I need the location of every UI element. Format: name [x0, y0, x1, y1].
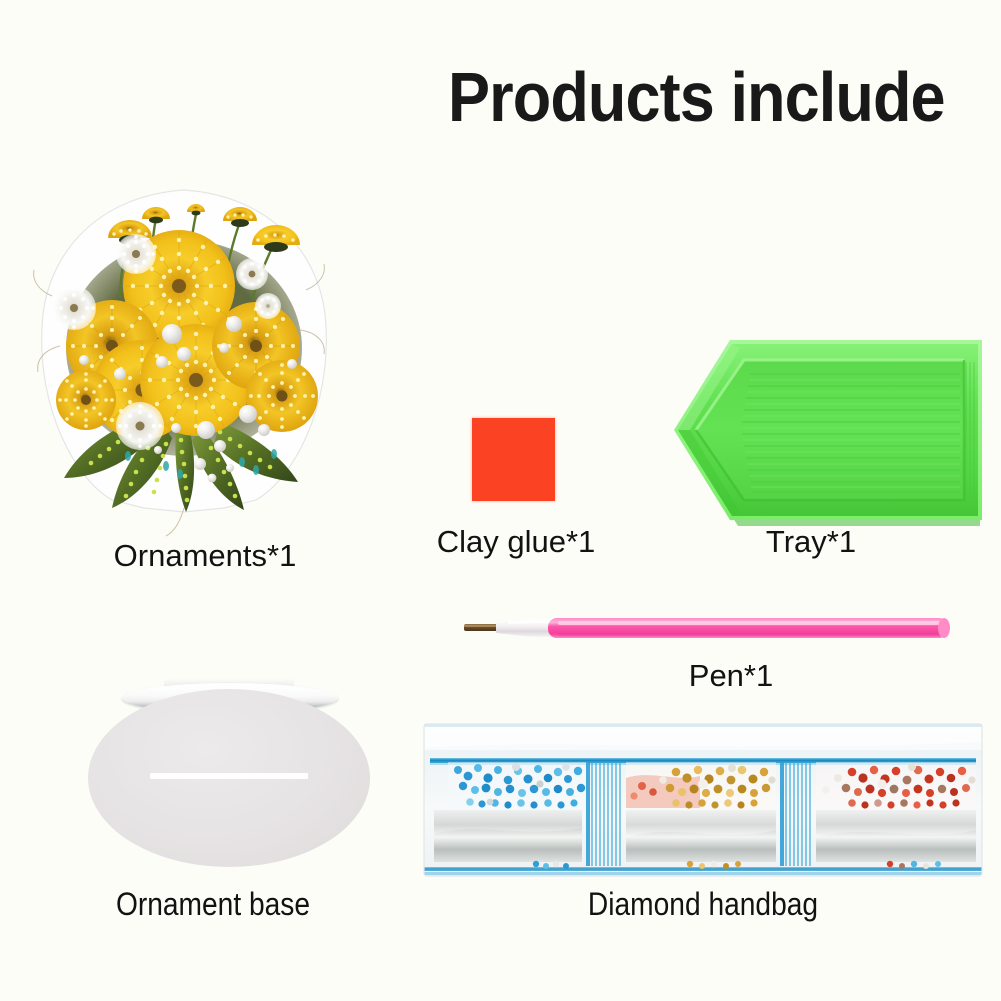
green-diamond-tray-icon	[630, 320, 990, 545]
compartment-blue	[434, 762, 588, 862]
compartment-red	[816, 762, 976, 862]
diamond-handbag-label: Diamond handbag	[498, 886, 908, 923]
pen-product	[462, 612, 950, 644]
diamond-rhinestone-bag-icon	[420, 718, 986, 884]
pen-label: Pen*1	[620, 658, 842, 694]
ornament-base-slot	[150, 773, 308, 779]
ornaments-label: Ornaments*1	[0, 538, 410, 574]
infographic-canvas: Products include	[0, 0, 1001, 1001]
diamond-handbag-product	[420, 718, 986, 884]
tray-product	[630, 320, 990, 545]
clay-glue-label: Clay glue*1	[405, 524, 627, 560]
tray-label: Tray*1	[700, 524, 922, 560]
pink-diamond-pen-icon	[462, 612, 950, 644]
flower-bouquet-diamond-painting-ornament-icon	[24, 178, 344, 538]
compartment-gold	[626, 762, 776, 862]
ornament-base-product	[88, 689, 370, 867]
ornament-base-label: Ornament base	[26, 886, 401, 923]
ornaments-product	[24, 178, 344, 538]
clay-glue-product	[472, 418, 555, 501]
page-title: Products include	[448, 62, 945, 132]
